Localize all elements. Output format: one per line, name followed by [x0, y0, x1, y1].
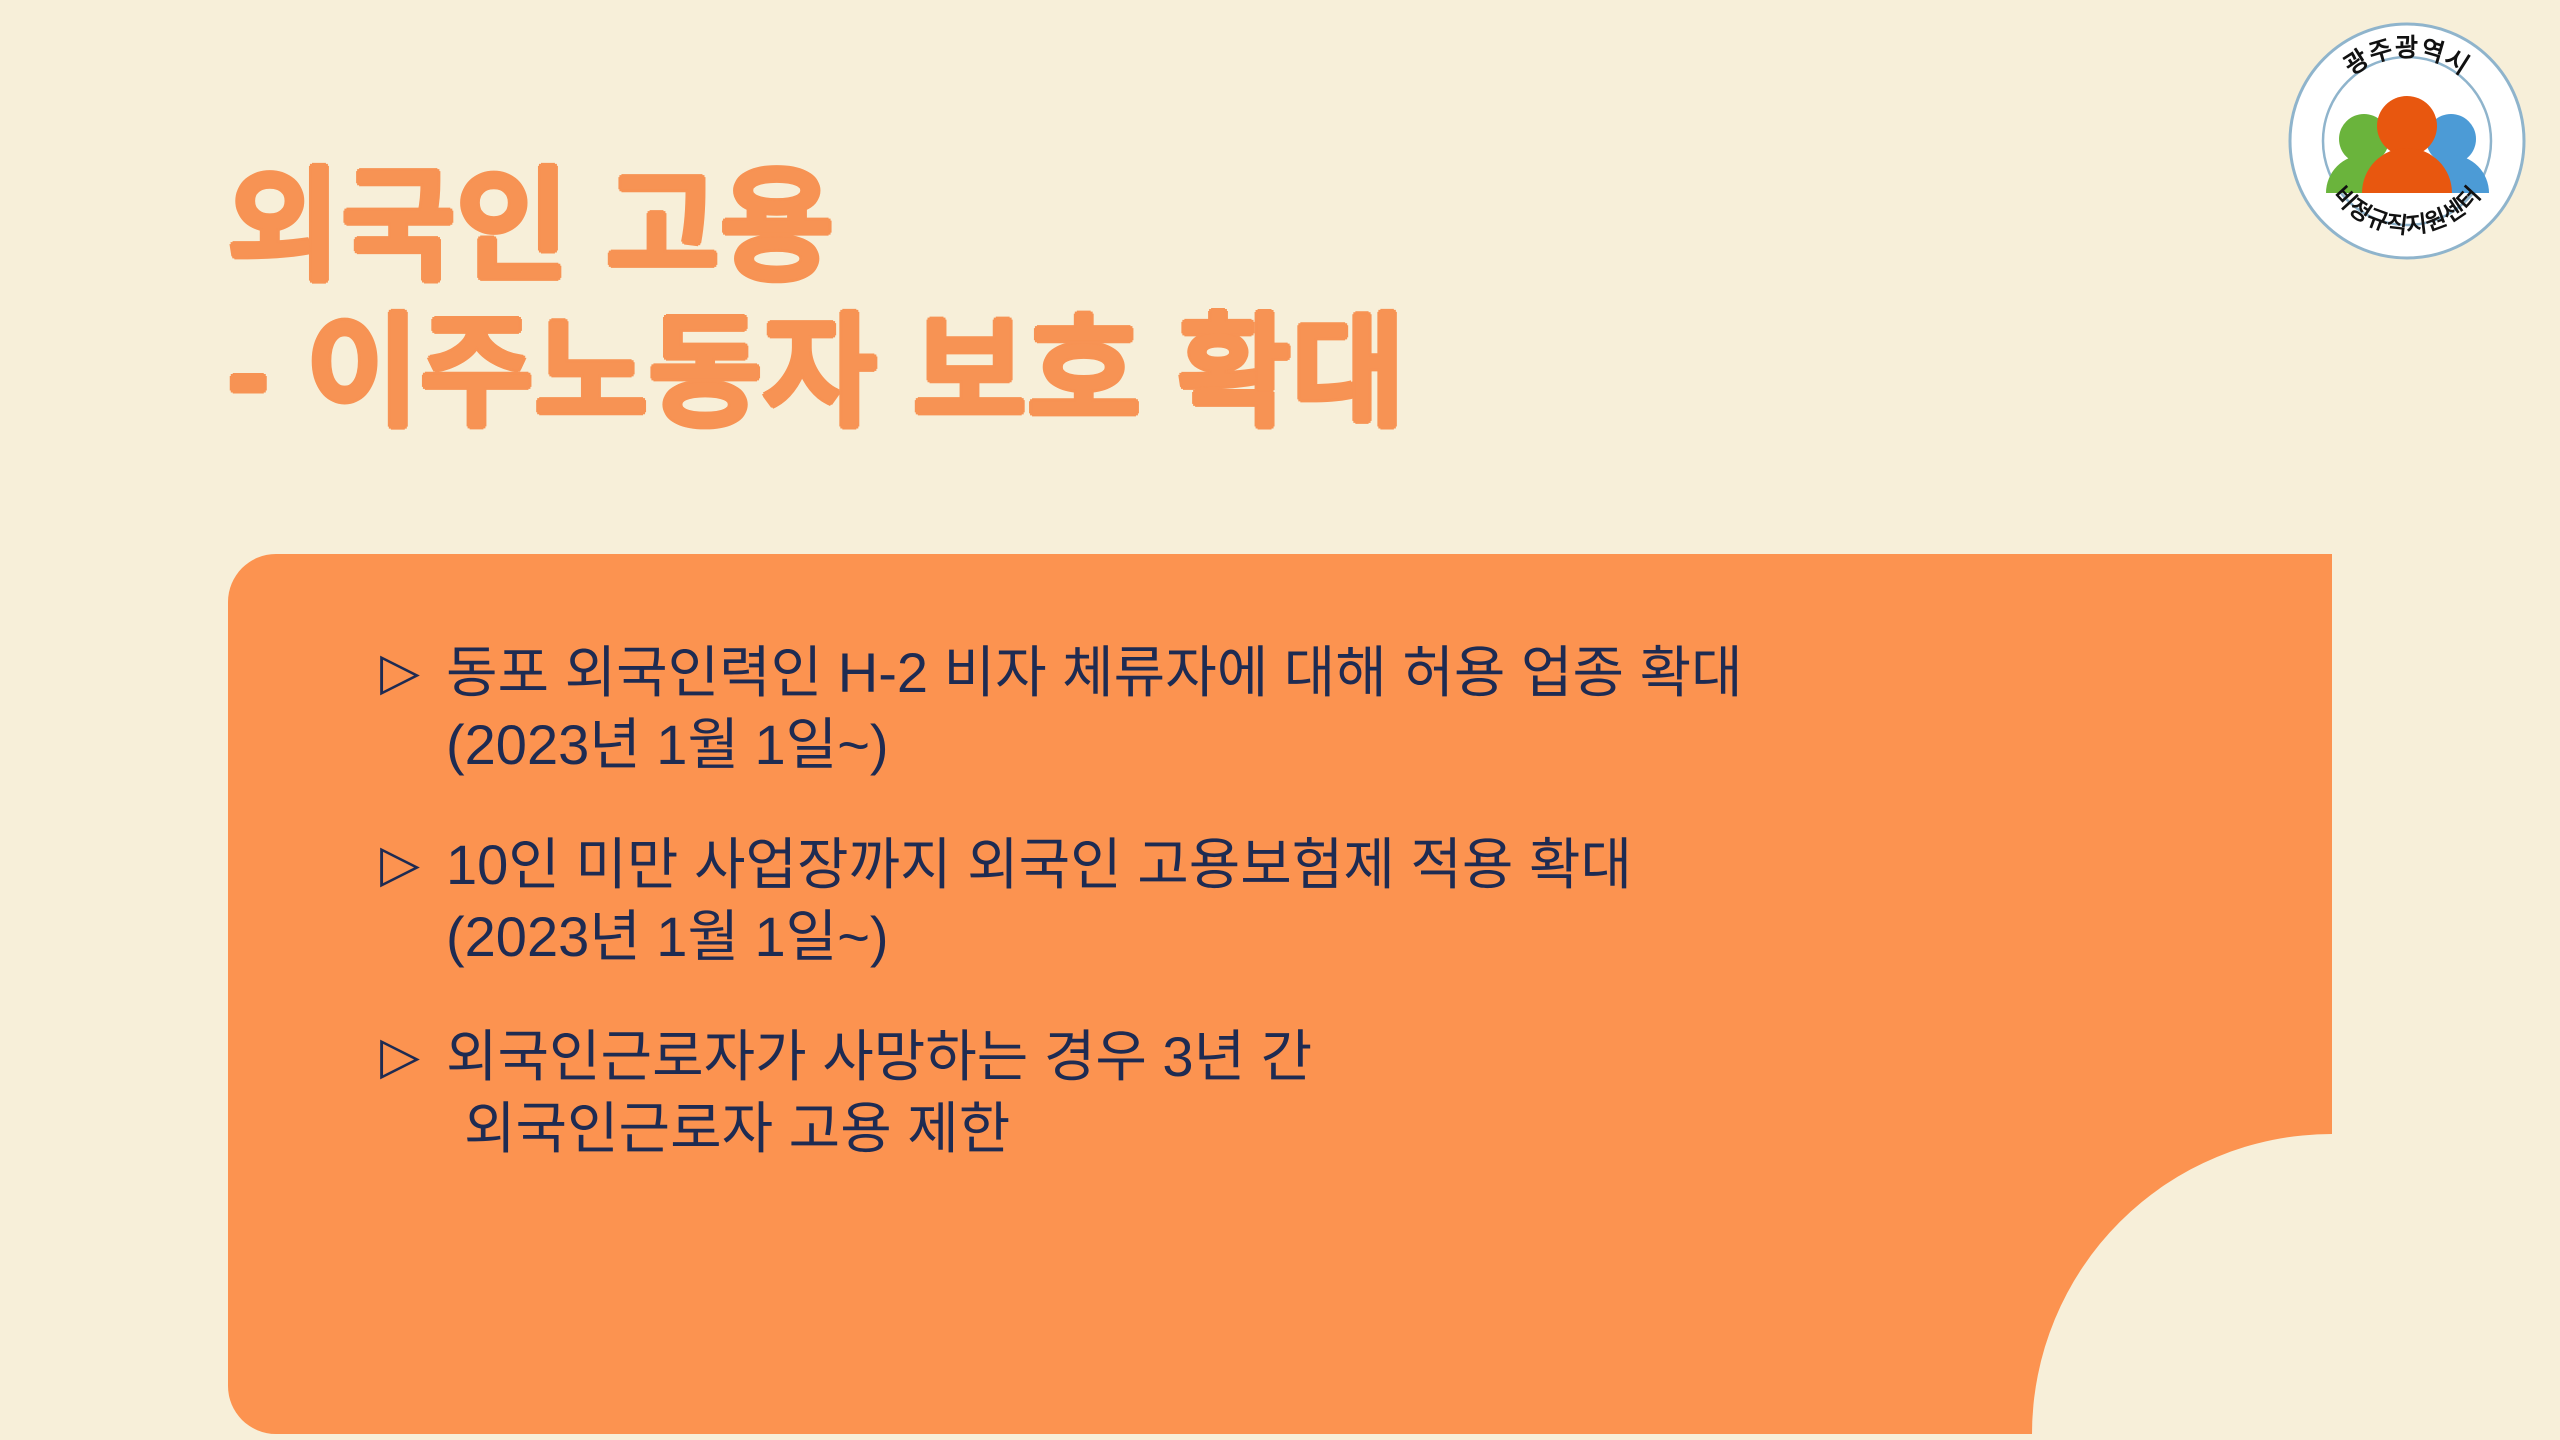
bullet-subtext: 외국인근로자 고용 제한	[464, 1096, 2280, 1162]
bullet-subtext: (2023년 1월 1일~)	[446, 712, 2280, 778]
title-line-2: - 이주노동자 보호 확대	[228, 311, 2128, 435]
title-line-1: 외국인 고용	[228, 165, 2128, 289]
bullet-list: ▷ 동포 외국인력인 H-2 비자 체류자에 대해 허용 업종 확대 (2023…	[380, 640, 2280, 1162]
gwangju-support-center-logo: 광주광역시 비정규직지원센터	[2288, 22, 2526, 260]
triangle-right-icon: ▷	[380, 832, 446, 896]
bullet-text: 10인 미만 사업장까지 외국인 고용보험제 적용 확대	[446, 832, 2280, 898]
card-bottom-right-curve	[2032, 1134, 2332, 1434]
list-item: ▷ 10인 미만 사업장까지 외국인 고용보험제 적용 확대 (2023년 1월…	[380, 832, 2280, 970]
bullet-text: 동포 외국인력인 H-2 비자 체류자에 대해 허용 업종 확대	[446, 640, 2280, 706]
list-item: ▷ 외국인근로자가 사망하는 경우 3년 간 외국인근로자 고용 제한	[380, 1024, 2280, 1162]
page-title: 외국인 고용 - 이주노동자 보호 확대	[228, 165, 2128, 436]
bullet-subtext: (2023년 1월 1일~)	[446, 904, 2280, 970]
triangle-right-icon: ▷	[380, 640, 446, 704]
triangle-right-icon: ▷	[380, 1024, 446, 1088]
bullet-text: 외국인근로자가 사망하는 경우 3년 간	[446, 1024, 2280, 1090]
list-item: ▷ 동포 외국인력인 H-2 비자 체류자에 대해 허용 업종 확대 (2023…	[380, 640, 2280, 778]
slide-root: 광주광역시 비정규직지원센터 외국인 고용 - 이주노동자 보호 확대 ▷ 동포…	[0, 0, 2560, 1440]
